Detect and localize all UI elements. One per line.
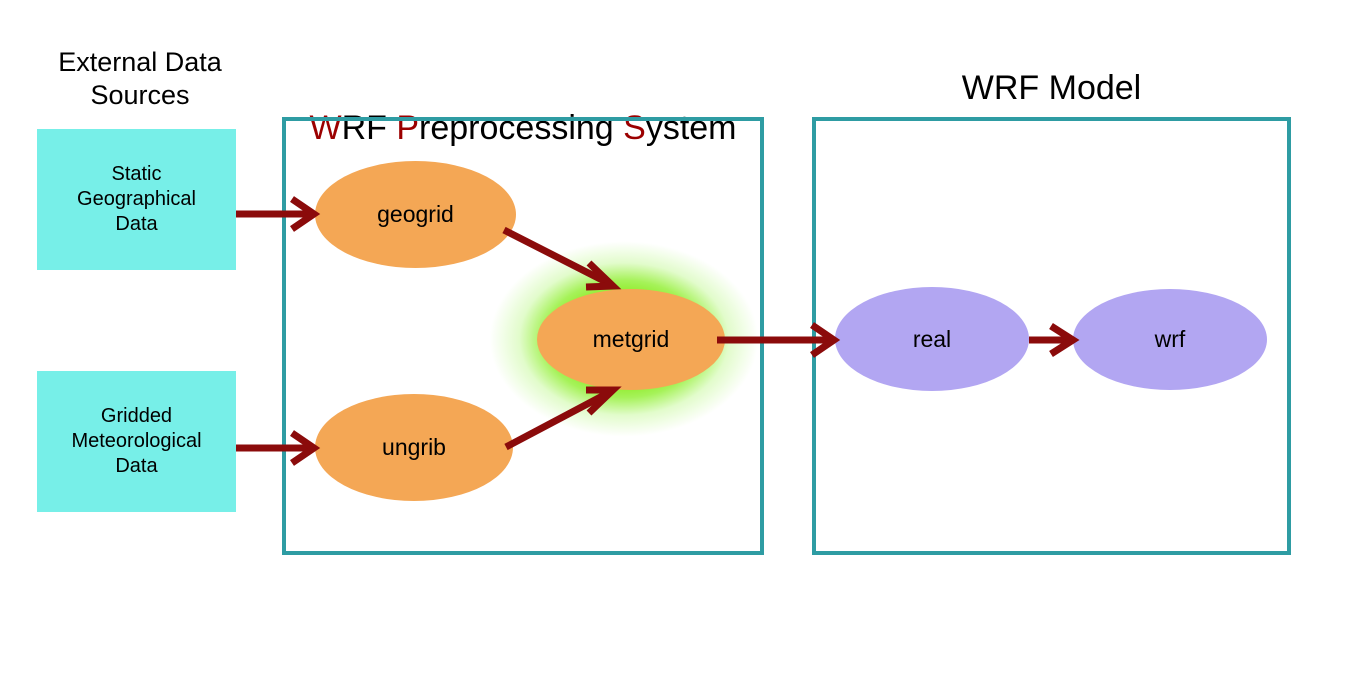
process-node-ungrib: ungrib — [315, 394, 513, 501]
diagram-canvas: External Data Sources WRF Preprocessing … — [0, 0, 1368, 677]
process-node-real: real — [835, 287, 1029, 391]
data-box-static-geographical-data: Static Geographical Data — [37, 129, 236, 270]
external-data-sources-title: External Data Sources — [10, 46, 270, 112]
process-node-wrf: wrf — [1073, 289, 1267, 390]
wrf-model-section-title: WRF Model — [812, 68, 1291, 108]
process-node-metgrid: metgrid — [537, 289, 725, 390]
data-box-gridded-meteorological-data: Gridded Meteorological Data — [37, 371, 236, 512]
process-node-geogrid: geogrid — [315, 161, 516, 268]
